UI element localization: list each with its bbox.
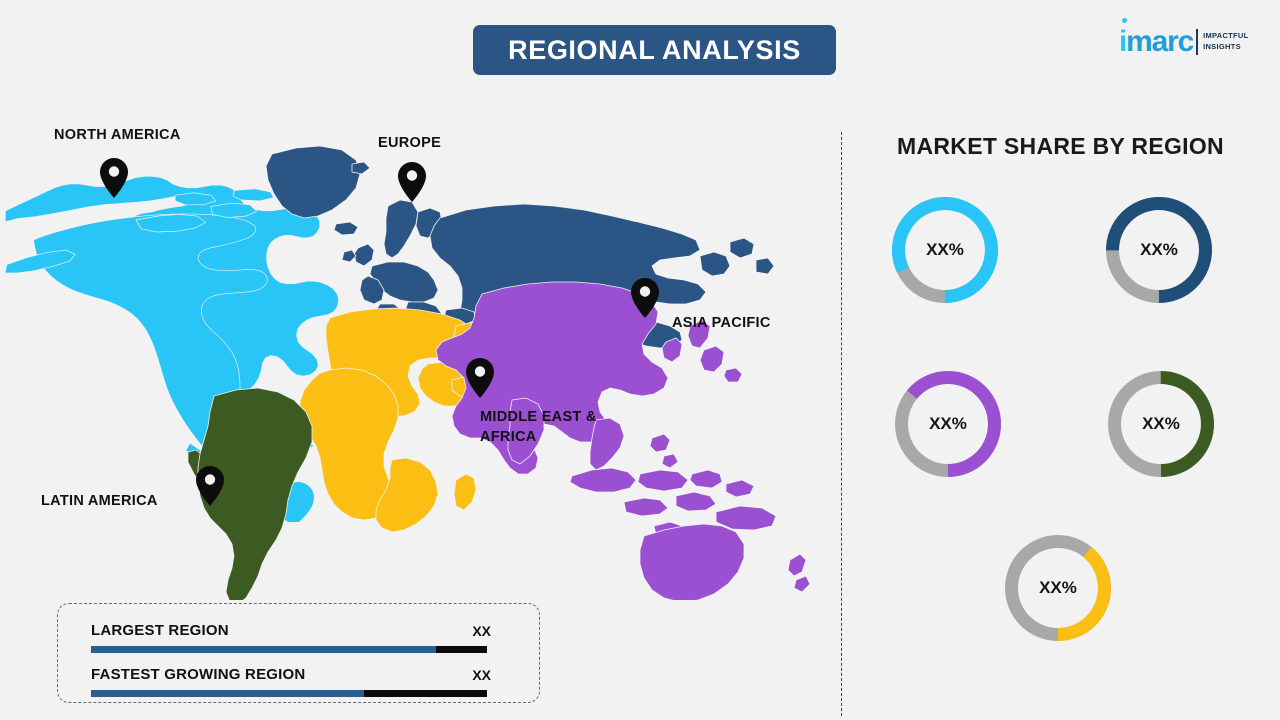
summary-value: XX: [472, 623, 491, 639]
donut-value-label: XX%: [1102, 365, 1220, 483]
logo-wordmark: imarc: [1119, 27, 1193, 57]
donut-chart-middle-east-africa: XX%: [999, 529, 1117, 647]
logo-dot-icon: [1122, 18, 1127, 23]
logo-divider: [1196, 29, 1198, 55]
summary-progress-track: [91, 646, 487, 653]
map-pin-north-america-icon[interactable]: [100, 158, 128, 198]
map-pin-latin-america-icon[interactable]: [196, 466, 224, 506]
donut-value-label: XX%: [999, 529, 1117, 647]
map-label-north-america: NORTH AMERICA: [54, 126, 181, 146]
page-title-banner: REGIONAL ANALYSIS: [473, 25, 836, 75]
logo-tagline-line2: INSIGHTS: [1203, 42, 1248, 53]
infographic-canvas: REGIONAL ANALYSIS imarc IMPACTFUL INSIGH…: [0, 0, 1280, 720]
logo-tagline: IMPACTFUL INSIGHTS: [1203, 31, 1248, 53]
map-label-asia-pacific: ASIA PACIFIC: [672, 314, 771, 334]
donut-chart-north-america: XX%: [886, 191, 1004, 309]
summary-progress-fill: [91, 690, 364, 697]
summary-progress-track: [91, 690, 487, 697]
logo-letters-marc: marc: [1126, 25, 1193, 58]
summary-value: XX: [472, 667, 491, 683]
summary-progress-fill: [91, 646, 436, 653]
region-summary-box: LARGEST REGION XX FASTEST GROWING REGION…: [57, 603, 540, 703]
panel-title: MARKET SHARE BY REGION: [888, 133, 1233, 160]
map-label-europe: EUROPE: [378, 134, 441, 154]
summary-label: LARGEST REGION: [91, 622, 229, 639]
page-title: REGIONAL ANALYSIS: [508, 35, 801, 66]
donut-chart-latin-america: XX%: [1102, 365, 1220, 483]
imarc-logo: imarc IMPACTFUL INSIGHTS: [1119, 22, 1265, 62]
donut-value-label: XX%: [1100, 191, 1218, 309]
map-pin-europe-icon[interactable]: [398, 162, 426, 202]
map-label-middle-east-africa: MIDDLE EAST & AFRICA: [480, 408, 597, 447]
summary-label: FASTEST GROWING REGION: [91, 666, 305, 683]
logo-tagline-line1: IMPACTFUL: [1203, 31, 1248, 42]
donut-value-label: XX%: [886, 191, 1004, 309]
map-pin-middle-east-africa-icon[interactable]: [466, 358, 494, 398]
donut-chart-europe: XX%: [1100, 191, 1218, 309]
donut-value-label: XX%: [889, 365, 1007, 483]
map-pin-asia-pacific-icon[interactable]: [631, 278, 659, 318]
donut-chart-asia-pacific: XX%: [889, 365, 1007, 483]
map-label-latin-america: LATIN AMERICA: [41, 492, 158, 512]
section-divider: [841, 132, 842, 716]
